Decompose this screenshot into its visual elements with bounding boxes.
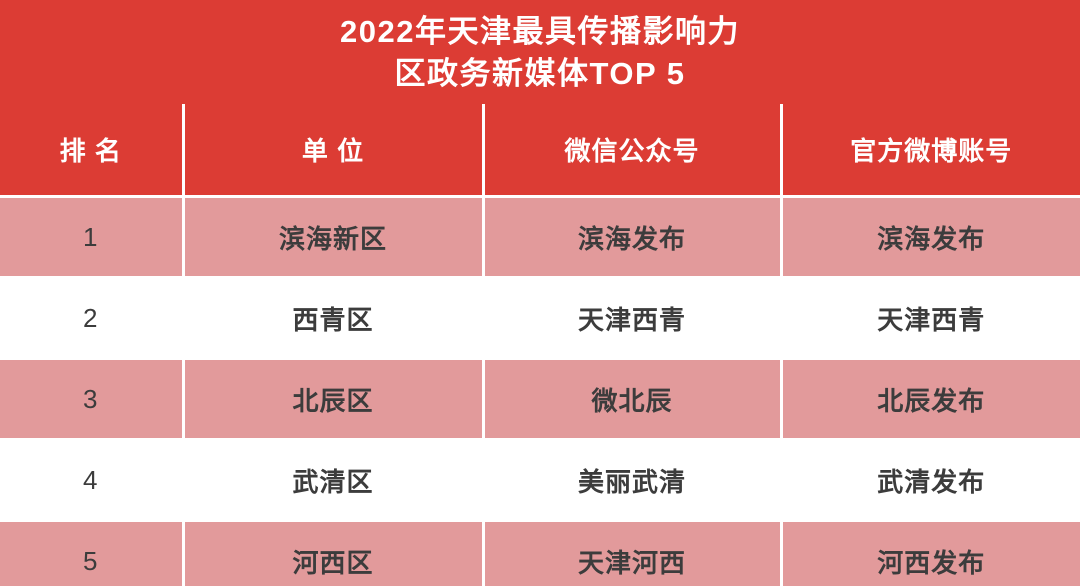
table-row: 5 河西区 天津河西 河西发布 [0, 521, 1080, 586]
cell-weibo: 滨海发布 [781, 197, 1080, 278]
column-header-wechat: 微信公众号 [483, 104, 781, 197]
column-header-unit: 单 位 [183, 104, 483, 197]
ranking-poster: 2022年天津最具传播影响力 区政务新媒体TOP 5 排 名 单 位 微信公众号… [0, 0, 1080, 586]
cell-rank: 2 [0, 278, 183, 359]
table-row: 4 武清区 美丽武清 武清发布 [0, 440, 1080, 521]
cell-unit: 北辰区 [183, 359, 483, 440]
cell-weibo: 武清发布 [781, 440, 1080, 521]
cell-weibo: 天津西青 [781, 278, 1080, 359]
cell-wechat: 美丽武清 [483, 440, 781, 521]
ranking-table: 排 名 单 位 微信公众号 官方微博账号 1 滨海新区 滨海发布 滨海发布 2 … [0, 104, 1080, 586]
cell-unit: 滨海新区 [183, 197, 483, 278]
table-row: 3 北辰区 微北辰 北辰发布 [0, 359, 1080, 440]
cell-unit: 武清区 [183, 440, 483, 521]
cell-wechat: 滨海发布 [483, 197, 781, 278]
cell-rank: 1 [0, 197, 183, 278]
table-row: 1 滨海新区 滨海发布 滨海发布 [0, 197, 1080, 278]
cell-unit: 河西区 [183, 521, 483, 586]
cell-wechat: 天津西青 [483, 278, 781, 359]
cell-rank: 3 [0, 359, 183, 440]
table-header-row: 排 名 单 位 微信公众号 官方微博账号 [0, 104, 1080, 197]
cell-unit: 西青区 [183, 278, 483, 359]
column-header-rank: 排 名 [0, 104, 183, 197]
table-row: 2 西青区 天津西青 天津西青 [0, 278, 1080, 359]
column-header-weibo: 官方微博账号 [781, 104, 1080, 197]
cell-wechat: 天津河西 [483, 521, 781, 586]
title-line-2: 区政务新媒体TOP 5 [395, 53, 686, 95]
table-body: 1 滨海新区 滨海发布 滨海发布 2 西青区 天津西青 天津西青 3 北辰区 微… [0, 197, 1080, 586]
cell-rank: 4 [0, 440, 183, 521]
cell-weibo: 河西发布 [781, 521, 1080, 586]
cell-rank: 5 [0, 521, 183, 586]
cell-wechat: 微北辰 [483, 359, 781, 440]
title-banner: 2022年天津最具传播影响力 区政务新媒体TOP 5 [0, 0, 1080, 104]
title-line-1: 2022年天津最具传播影响力 [340, 11, 740, 53]
cell-weibo: 北辰发布 [781, 359, 1080, 440]
